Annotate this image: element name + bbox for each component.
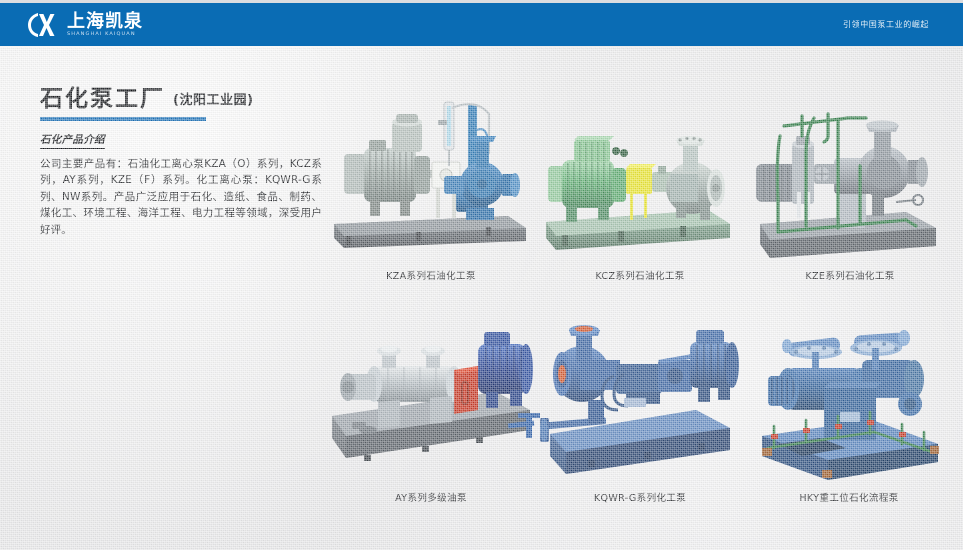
product-grid: KZA系列石油化工泵 bbox=[326, 96, 944, 508]
product-photo-kcz bbox=[540, 114, 740, 264]
title-main-text: 石化泵工厂 bbox=[40, 86, 165, 112]
product-card-hky[interactable]: HKY重工位石化流程泵 bbox=[754, 318, 944, 508]
product-card-kcz[interactable]: KCZ系列石油化工泵 bbox=[540, 96, 740, 286]
product-photo-kqwrg bbox=[540, 324, 740, 480]
product-photo-kze bbox=[756, 106, 944, 264]
product-photo-ay bbox=[326, 318, 536, 480]
intro-block: 石化产品介绍 公司主要产品有：石油化工离心泵KZA（O）系列，KCZ系列，AY系… bbox=[40, 128, 322, 238]
brand-name-cn: 上海凯泉 bbox=[67, 12, 143, 31]
product-card-kze[interactable]: KZE系列石油化工泵 bbox=[756, 96, 944, 286]
product-card-ay[interactable]: AY系列多级油泵 bbox=[326, 318, 536, 508]
product-caption-kqwrg: KQWR-G系列化工泵 bbox=[540, 490, 740, 504]
brand-logo[interactable]: 上海凯泉 SHANGHAI KAIQUAN bbox=[26, 10, 143, 40]
title-underline bbox=[40, 117, 206, 121]
presentation-slide: 上海凯泉 SHANGHAI KAIQUAN 引领中国泵工业的崛起 石化泵工厂 (… bbox=[0, 0, 963, 550]
page-title: 石化泵工厂 (沈阳工业园) bbox=[40, 86, 340, 121]
product-caption-kcz: KCZ系列石油化工泵 bbox=[540, 268, 740, 282]
product-photo-hky bbox=[754, 308, 944, 480]
kaiquan-logo-icon bbox=[26, 11, 60, 39]
intro-heading: 石化产品介绍 bbox=[40, 134, 105, 149]
product-caption-ay: AY系列多级油泵 bbox=[326, 490, 536, 504]
intro-paragraph: 公司主要产品有：石油化工离心泵KZA（O）系列，KCZ系列，AY系列，KZE（F… bbox=[40, 156, 322, 238]
header-slogan: 引领中国泵工业的崛起 bbox=[843, 3, 929, 46]
product-card-kqwrg[interactable]: KQWR-G系列化工泵 bbox=[540, 318, 740, 508]
product-caption-kza: KZA系列石油化工泵 bbox=[326, 268, 536, 282]
product-photo-kza bbox=[326, 96, 536, 261]
brand-name-en: SHANGHAI KAIQUAN bbox=[67, 31, 143, 38]
title-sub-text: (沈阳工业园) bbox=[173, 91, 253, 112]
product-card-kza[interactable]: KZA系列石油化工泵 bbox=[326, 96, 536, 286]
product-caption-kze: KZE系列石油化工泵 bbox=[756, 268, 944, 282]
page-header: 上海凯泉 SHANGHAI KAIQUAN 引领中国泵工业的崛起 bbox=[0, 3, 963, 46]
product-caption-hky: HKY重工位石化流程泵 bbox=[754, 490, 944, 504]
